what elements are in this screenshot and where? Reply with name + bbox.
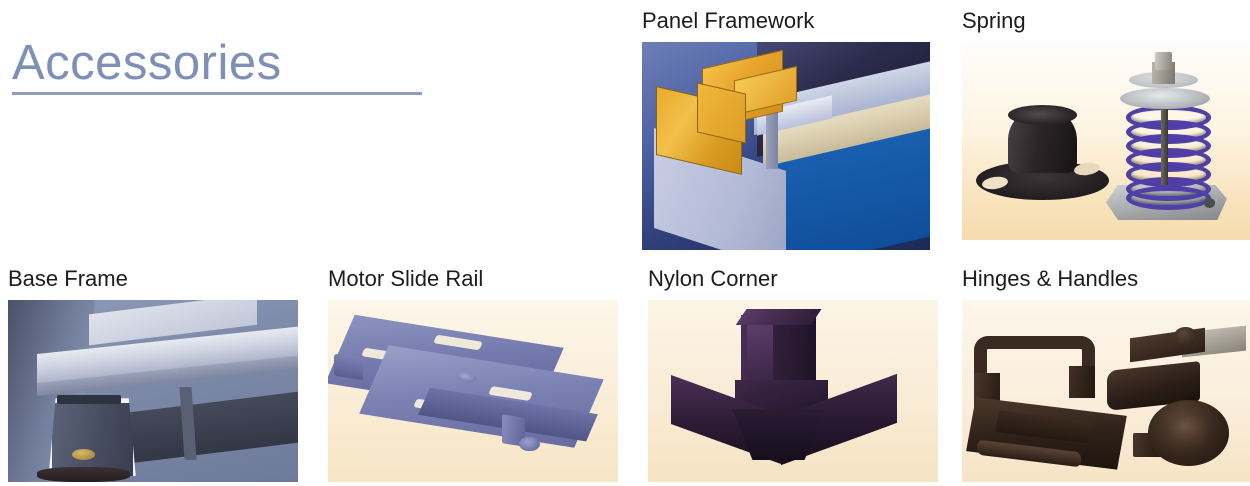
bf-under-shadow (124, 391, 298, 464)
tile-panel-framework[interactable]: Panel Framework (642, 8, 932, 250)
msr-bolt-head (519, 437, 539, 452)
pf-silver-upright (766, 110, 778, 169)
tile-label-motor-slide-rail: Motor Slide Rail (328, 266, 483, 292)
page-title: Accessories (12, 36, 424, 91)
product-image-spring (962, 42, 1250, 240)
product-image-base-frame (8, 300, 298, 482)
spring-bolt (1155, 52, 1172, 70)
tile-base-frame[interactable]: Base Frame (8, 266, 300, 486)
tile-motor-slide-rail[interactable]: Motor Slide Rail (328, 266, 620, 486)
product-image-nylon-corner (648, 300, 938, 482)
tile-nylon-corner[interactable]: Nylon Corner (648, 266, 940, 486)
hh-handle-foot-right (1069, 366, 1095, 399)
tile-hinges-handles[interactable]: Hinges & Handles (962, 266, 1250, 486)
tile-label-base-frame: Base Frame (8, 266, 128, 292)
spring-top-disc (1120, 88, 1209, 110)
bf-mounting-clip (49, 398, 136, 476)
product-image-panel-framework (642, 42, 930, 250)
bf-rubber-foot (37, 467, 130, 482)
page-title-underline (12, 92, 422, 95)
hh-lock-cam (1165, 415, 1209, 448)
tile-label-spring: Spring (962, 8, 1026, 34)
tile-label-nylon-corner: Nylon Corner (648, 266, 778, 292)
nc-vertical-top-face (735, 309, 821, 325)
product-image-motor-slide-rail (328, 300, 618, 482)
tile-label-hinges-handles: Hinges & Handles (962, 266, 1138, 292)
bf-clip-top-tab (57, 395, 121, 404)
product-image-hinges-handles (962, 300, 1250, 482)
tile-spring[interactable]: Spring (962, 8, 1250, 250)
tile-label-panel-framework: Panel Framework (642, 8, 814, 34)
